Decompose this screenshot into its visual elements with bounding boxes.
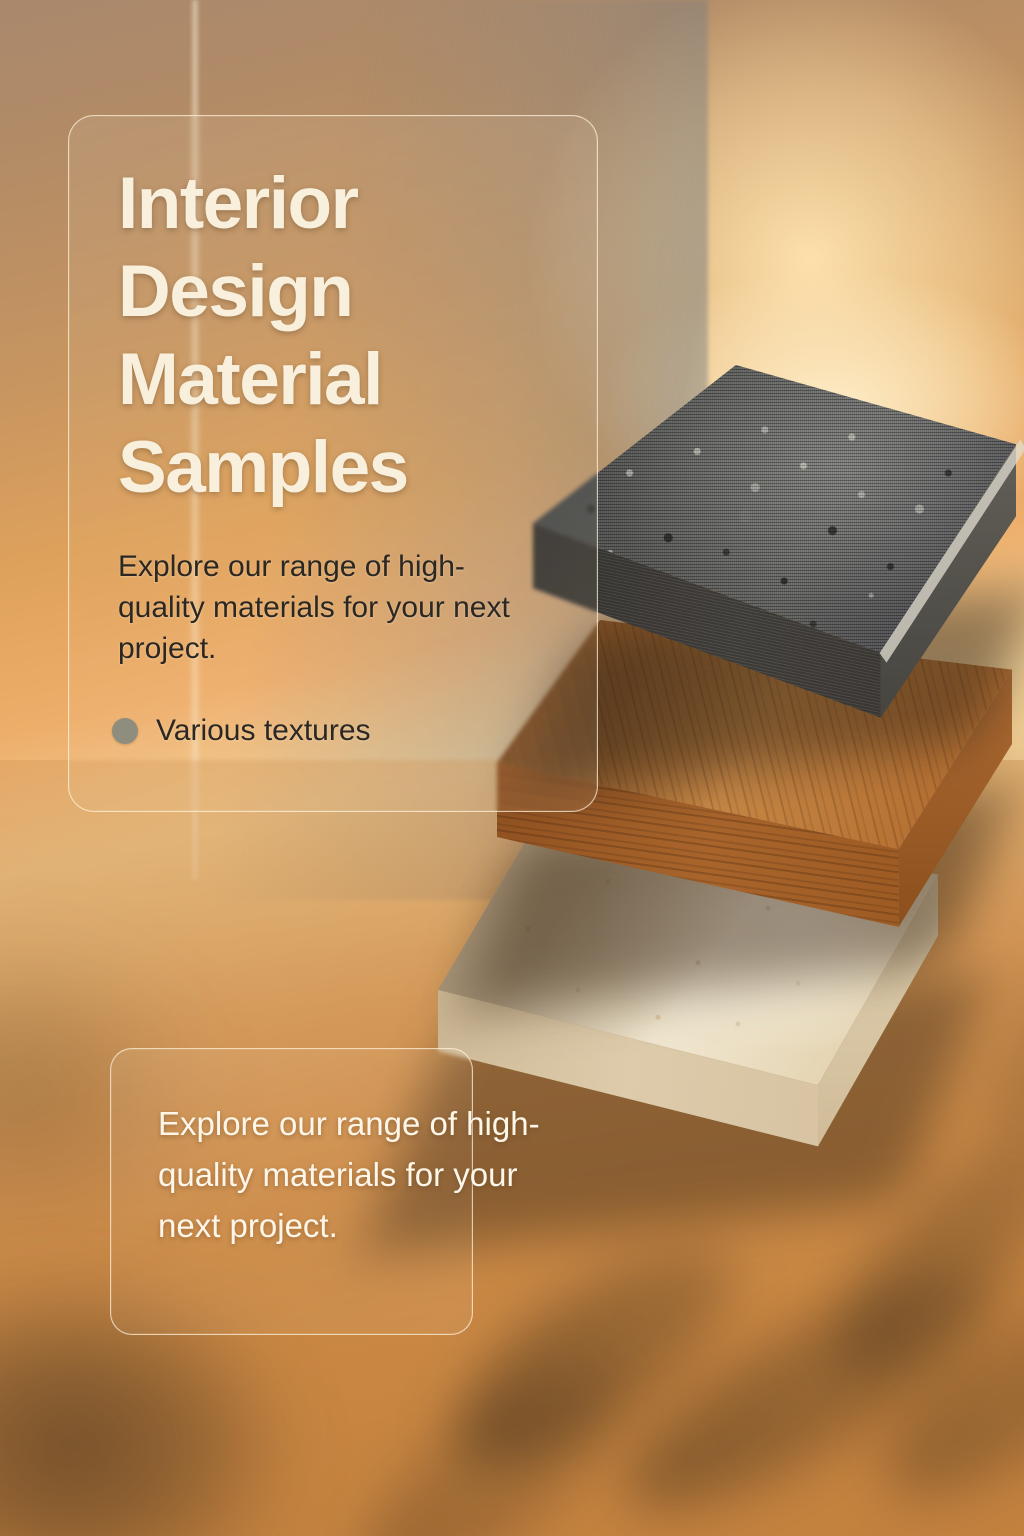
bullet-dot-icon bbox=[112, 718, 138, 744]
quote-card-text: Explore our range of high-quality materi… bbox=[158, 1098, 578, 1251]
poster-canvas: Interior Design Material Samples Explore… bbox=[0, 0, 1024, 1536]
page-title: Interior Design Material Samples bbox=[118, 160, 548, 512]
granite-slab bbox=[533, 365, 1016, 725]
feature-bullet-label: Various textures bbox=[156, 716, 371, 746]
hero-subtitle: Explore our range of high-quality materi… bbox=[118, 546, 518, 669]
feature-bullet-item: Various textures bbox=[112, 716, 371, 746]
